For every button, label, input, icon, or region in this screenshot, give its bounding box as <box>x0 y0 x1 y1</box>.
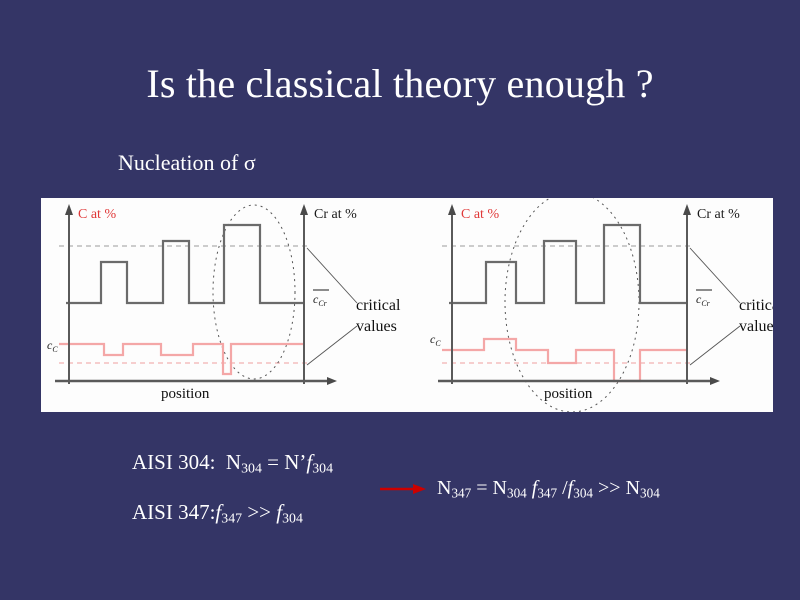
slide-subtitle: Nucleation of σ <box>118 150 256 176</box>
eq-347-gg: >> <box>247 500 271 524</box>
eq-347-label: AISI 347: <box>132 500 215 524</box>
critical-values-annotation-line1: critical <box>356 297 401 314</box>
right-threshold-label: cCr <box>313 290 329 308</box>
left-chart: C at % Cr at % cC cCr position critical … <box>47 204 401 402</box>
profiles-figure: C at % Cr at % cC cCr position critical … <box>41 198 773 412</box>
res-n1-sub: 347 <box>451 485 471 500</box>
equation-aisi-304: AISI 304: N304 = N’f304 <box>132 450 333 476</box>
svg-text:cC: cC <box>430 332 441 348</box>
eq-304-label: AISI 304: <box>132 450 215 474</box>
right-y-axis-arrowhead <box>683 204 691 215</box>
eq-304-f-sub: 304 <box>312 460 333 475</box>
critical-leader-bottom <box>690 326 740 365</box>
x-axis-arrowhead <box>710 377 720 385</box>
page-title: Is the classical theory enough ? <box>0 60 800 107</box>
critical-values-annotation-line2: values <box>739 318 773 335</box>
implication-arrow <box>380 482 428 496</box>
svg-text:cCr: cCr <box>313 292 328 308</box>
res-equals: = <box>476 477 487 499</box>
arrow-right-icon <box>380 482 428 496</box>
eq-347-f1-sub: 347 <box>221 510 242 525</box>
res-n3-sub: 304 <box>640 485 660 500</box>
right-chart: C at % Cr at % cC cCr position critical … <box>430 198 773 412</box>
x-axis-arrowhead <box>327 377 337 385</box>
left-axis-label: C at % <box>78 207 116 222</box>
right-y-axis-arrowhead <box>300 204 308 215</box>
slide-canvas: Is the classical theory enough ? Nucleat… <box>0 0 800 600</box>
eq-347-f2-sub: 304 <box>282 510 303 525</box>
res-n1: N <box>437 477 451 499</box>
c-step-curve <box>442 339 686 381</box>
right-axis-label: Cr at % <box>697 207 740 222</box>
res-gg: >> <box>598 477 621 499</box>
critical-values-annotation-line1: critical <box>739 297 773 314</box>
eq-304-n: N304 <box>221 450 262 474</box>
highlight-ellipse <box>213 205 295 379</box>
eq-304-equals: = <box>267 450 279 474</box>
cr-step-curve <box>66 225 303 303</box>
res-f1-sub: 347 <box>537 485 557 500</box>
figure-panel: C at % Cr at % cC cCr position critical … <box>41 198 773 412</box>
res-f2-sub: 304 <box>573 485 593 500</box>
svg-text:cC: cC <box>47 338 58 354</box>
left-y-axis-arrowhead <box>448 204 456 215</box>
cr-step-curve <box>449 225 686 303</box>
critical-leader-bottom <box>307 326 357 365</box>
res-n2-sub: 304 <box>507 485 527 500</box>
left-axis-label: C at % <box>461 207 499 222</box>
eq-304-nprime: N’ <box>284 450 306 474</box>
x-axis-label: position <box>161 386 210 402</box>
right-axis-label: Cr at % <box>314 207 357 222</box>
right-threshold-label: cCr <box>696 290 712 308</box>
equation-result: N347 = N304 f347 /f304 >> N304 <box>437 477 660 501</box>
x-axis-label: position <box>544 386 593 402</box>
left-y-axis-arrowhead <box>65 204 73 215</box>
critical-values-annotation-line2: values <box>356 318 397 335</box>
equation-aisi-347: AISI 347:f347 >> f304 <box>132 500 303 526</box>
left-threshold-label: cC <box>430 332 441 348</box>
svg-text:cCr: cCr <box>696 292 711 308</box>
res-n2: N <box>493 477 507 499</box>
res-n3: N <box>626 477 640 499</box>
c-step-curve <box>59 344 303 374</box>
left-threshold-label: cC <box>47 338 58 354</box>
